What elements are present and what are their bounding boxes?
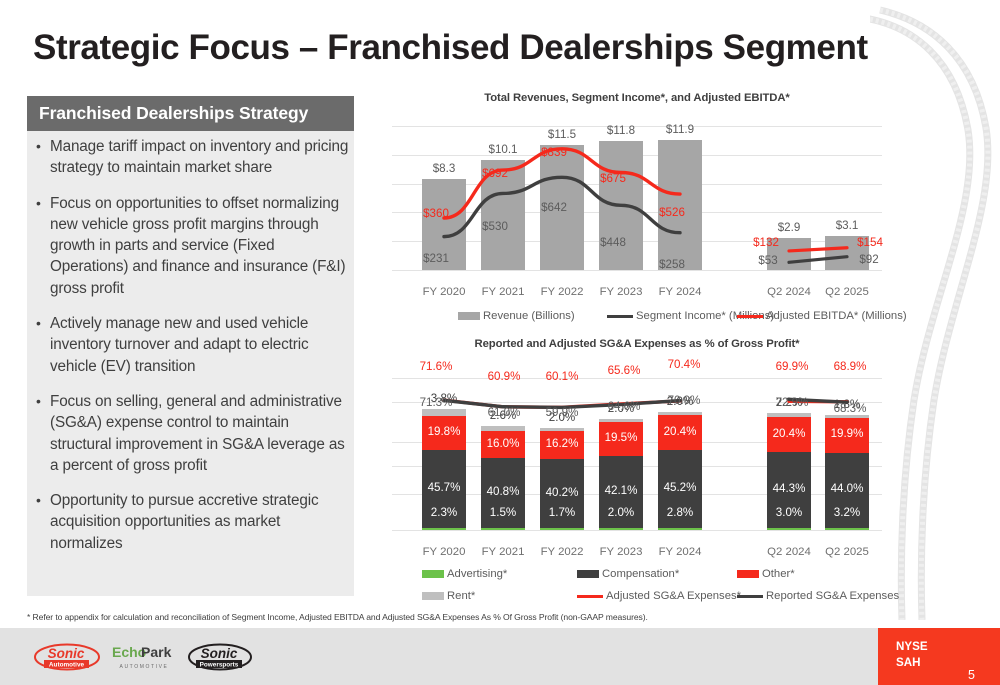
legend-label: Advertising*	[447, 568, 507, 580]
adjusted-ebitda-label: $675	[600, 172, 626, 185]
strategy-bullet-text: Actively manage new and used vehicle inv…	[50, 313, 352, 377]
axis-tick-label: FY 2020	[423, 286, 466, 298]
sonic-powersports-logo: Sonic Powersports	[187, 642, 253, 672]
footer-logos: Sonic Automotive Echo Park AUTOMOTIVE So…	[33, 640, 253, 674]
axis-tick-label: Q2 2024	[767, 546, 811, 558]
bullet-marker-icon: •	[34, 391, 50, 476]
segment-income-label: $231	[423, 252, 449, 265]
sga-chart: Reported and Adjusted SG&A Expenses as %…	[392, 338, 882, 608]
bullet-marker-icon: •	[34, 136, 50, 179]
adjusted-sga-label: 71.6%	[420, 360, 453, 373]
bullet-marker-icon: •	[34, 490, 50, 554]
segment-income-label: $53	[758, 254, 777, 267]
footnote: * Refer to appendix for calculation and …	[27, 612, 827, 622]
revenue-chart-legend: Revenue (Billions)Segment Income* (Milli…	[392, 310, 882, 326]
strategy-panel-heading-text: Franchised Dealerships Strategy	[27, 96, 354, 124]
svg-text:Powersports: Powersports	[200, 662, 239, 669]
segment-income-label: $448	[600, 236, 626, 249]
adjusted-sga-label: 69.9%	[776, 360, 809, 373]
ticker-exchange-text: NYSE	[896, 639, 928, 655]
strategy-bullet: •Actively manage new and used vehicle in…	[34, 313, 352, 377]
legend-item[interactable]: Adjusted SG&A Expenses*	[577, 590, 741, 602]
strategy-bullet: •Focus on opportunities to offset normal…	[34, 193, 352, 299]
svg-text:Sonic: Sonic	[48, 646, 85, 661]
strategy-bullet-text: Manage tariff impact on inventory and pr…	[50, 136, 352, 179]
legend-item[interactable]: Adjusted EBITDA* (Millions)	[737, 310, 907, 322]
strategy-panel-header: Franchised Dealerships Strategy	[27, 96, 354, 131]
adjusted-sga-label: 60.1%	[546, 370, 579, 383]
axis-tick-label: FY 2021	[482, 286, 525, 298]
sonic-automotive-logo: Sonic Automotive	[33, 642, 101, 672]
segment-income-label: $258	[659, 258, 685, 271]
adjusted-ebitda-label: $692	[482, 167, 508, 180]
revenue-chart-x-axis: FY 2020FY 2021FY 2022FY 2023FY 2024Q2 20…	[392, 286, 882, 302]
reported-sga-label: 71.3%	[420, 396, 453, 409]
strategy-bullet-text: Opportunity to pursue accretive strategi…	[50, 490, 352, 554]
strategy-bullet: •Manage tariff impact on inventory and p…	[34, 136, 352, 179]
slide-root: Strategic Focus – Franchised Dealerships…	[0, 0, 1000, 685]
adjusted-sga-label: 68.9%	[834, 360, 867, 373]
legend-item[interactable]: Rent*	[422, 590, 475, 602]
axis-tick-label: FY 2021	[482, 546, 525, 558]
page-title: Strategic Focus – Franchised Dealerships…	[33, 28, 863, 68]
adjusted-ebitda-label: $154	[857, 236, 883, 249]
adjusted-sga-label: 70.4%	[668, 358, 701, 371]
legend-swatch-icon	[577, 595, 603, 598]
legend-swatch-icon	[422, 592, 444, 600]
legend-item[interactable]: Other*	[737, 568, 795, 580]
axis-tick-label: FY 2020	[423, 546, 466, 558]
adjusted-ebitda-label: $132	[753, 236, 779, 249]
reported-sga-label: 64.6%	[608, 400, 641, 413]
ticker-symbol-text: SAH	[896, 655, 928, 671]
sga-line-overlay	[392, 354, 882, 554]
segment-income-label: $530	[482, 220, 508, 233]
sga-chart-plot: 45.7%19.8%3.8%2.3%40.8%16.0%2.6%1.5%40.2…	[392, 354, 882, 546]
revenue-chart-title: Total Revenues, Segment Income*, and Adj…	[392, 92, 882, 104]
legend-swatch-icon	[458, 312, 480, 320]
legend-swatch-icon	[607, 315, 633, 318]
axis-tick-label: Q2 2024	[767, 286, 811, 298]
axis-tick-label: Q2 2025	[825, 546, 869, 558]
legend-label: Revenue (Billions)	[483, 310, 575, 322]
axis-tick-label: FY 2022	[541, 286, 584, 298]
svg-text:AUTOMOTIVE: AUTOMOTIVE	[120, 664, 169, 670]
axis-tick-label: FY 2023	[600, 546, 643, 558]
strategy-bullet: •Opportunity to pursue accretive strateg…	[34, 490, 352, 554]
strategy-bullet-text: Focus on opportunities to offset normali…	[50, 193, 352, 299]
svg-text:Sonic: Sonic	[201, 646, 238, 661]
strategy-bullet-text: Focus on selling, general and administra…	[50, 391, 352, 476]
axis-tick-label: Q2 2025	[825, 286, 869, 298]
ticker-exchange: NYSE SAH	[896, 639, 928, 671]
legend-label: Adjusted EBITDA* (Millions)	[766, 310, 907, 322]
echopark-automotive-logo: Echo Park AUTOMOTIVE	[112, 642, 176, 672]
legend-item[interactable]: Revenue (Billions)	[458, 310, 575, 322]
legend-swatch-icon	[577, 570, 599, 578]
legend-label: Rent*	[447, 590, 475, 602]
legend-item[interactable]: Compensation*	[577, 568, 679, 580]
bullet-marker-icon: •	[34, 313, 50, 377]
reported-sga-label: 70.9%	[668, 394, 701, 407]
reported-sga-label: 59.9%	[546, 406, 579, 419]
legend-label: Other*	[762, 568, 795, 580]
adjusted-sga-label: 65.6%	[608, 364, 641, 377]
revenue-chart-plot: $8.3$10.1$11.5$11.8$11.9$2.9$3.1$360$231…	[392, 114, 882, 282]
legend-label: Adjusted SG&A Expenses*	[606, 590, 741, 602]
svg-text:Park: Park	[141, 644, 172, 660]
axis-tick-label: FY 2022	[541, 546, 584, 558]
legend-swatch-icon	[737, 570, 759, 578]
axis-tick-label: FY 2023	[600, 286, 643, 298]
strategy-bullet-list: •Manage tariff impact on inventory and p…	[34, 136, 352, 568]
legend-swatch-icon	[422, 570, 444, 578]
svg-text:Automotive: Automotive	[49, 662, 85, 669]
legend-swatch-icon	[737, 315, 763, 318]
legend-swatch-icon	[737, 595, 763, 598]
axis-tick-label: FY 2024	[659, 286, 702, 298]
adjusted-ebitda-label: $360	[423, 207, 449, 220]
ticker-badge: NYSE SAH 5	[878, 628, 1000, 685]
adjusted-ebitda-label: $839	[541, 146, 567, 159]
revenue-line-overlay	[392, 114, 882, 282]
revenue-chart: Total Revenues, Segment Income*, and Adj…	[392, 92, 882, 332]
axis-tick-label: FY 2024	[659, 546, 702, 558]
sga-chart-legend: Advertising*Compensation*Other*Rent*Adju…	[392, 568, 882, 608]
page-number: 5	[968, 668, 975, 682]
legend-label: Reported SG&A Expenses	[766, 590, 899, 602]
segment-income-label: $92	[859, 253, 878, 266]
adjusted-ebitda-label: $526	[659, 206, 685, 219]
adjusted-sga-label: 60.9%	[488, 370, 521, 383]
legend-label: Compensation*	[602, 568, 679, 580]
reported-sga-label: 72.9%	[776, 396, 809, 409]
legend-item[interactable]: Reported SG&A Expenses	[737, 590, 899, 602]
reported-sga-label: 68.3%	[834, 402, 867, 415]
segment-income-label: $642	[541, 201, 567, 214]
bullet-marker-icon: •	[34, 193, 50, 299]
legend-item[interactable]: Advertising*	[422, 568, 507, 580]
strategy-bullet: •Focus on selling, general and administr…	[34, 391, 352, 476]
reported-sga-label: 61.0%	[488, 406, 521, 419]
sga-chart-title: Reported and Adjusted SG&A Expenses as %…	[392, 338, 882, 350]
sga-chart-x-axis: FY 2020FY 2021FY 2022FY 2023FY 2024Q2 20…	[392, 546, 882, 562]
